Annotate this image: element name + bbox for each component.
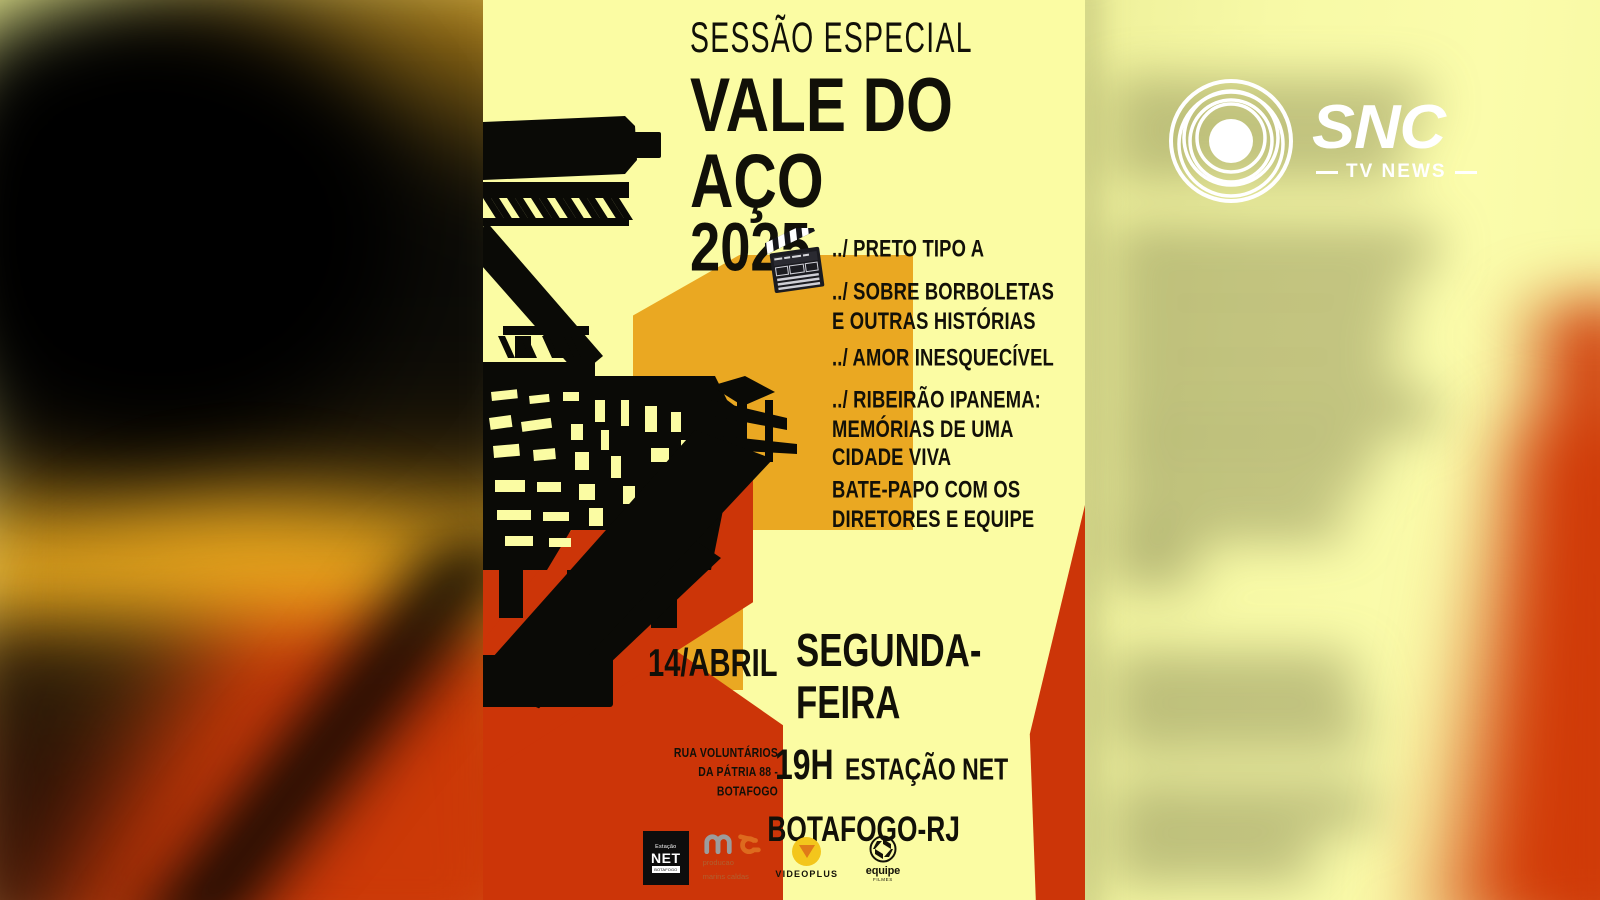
film-list-item: ../ RIBEIRÃO IPANEMA: MEMÓRIAS DE UMA CI… xyxy=(832,387,1057,473)
sponsor-logos: Estação NET BOTAFOGO xyxy=(643,824,913,892)
film-list-item: ../ AMOR INESQUECÍVEL xyxy=(832,345,1057,374)
snc-wordmark: SNC TV NEWS xyxy=(1312,99,1477,184)
videoplus-label: VIDEOPLUS xyxy=(775,869,839,879)
mc-logo-line2: marins caldas xyxy=(703,872,761,883)
event-details: 14/ABRIL SEGUNDA-FEIRA 19H ESTAÇÃO NET B… xyxy=(648,645,1068,842)
poster-title: VALE DO AÇO xyxy=(690,69,1059,220)
film-list: ../ PRETO TIPO A ../ SOBRE BORBOLETAS E … xyxy=(832,236,1077,543)
sponsor-logo-mc-producao: producao marins caldas xyxy=(703,833,761,883)
film-list-item: ../ SOBRE BORBOLETAS E OUTRAS HISTÓRIAS xyxy=(832,279,1057,337)
snc-subtitle-row: TV NEWS xyxy=(1312,161,1477,183)
net-logo-bar: BOTAFOGO xyxy=(652,866,680,873)
event-weekday: SEGUNDA-FEIRA xyxy=(796,625,1052,729)
net-logo-main-text: NET xyxy=(651,851,681,865)
film-list-item: ../ PRETO TIPO A xyxy=(832,236,1057,265)
poster-kicker: SESSÃO ESPECIAL xyxy=(690,16,1017,58)
sponsor-logo-videoplus: VIDEOPLUS xyxy=(775,837,839,879)
snc-dash-right-icon xyxy=(1455,171,1477,174)
snc-watermark: SNC TV NEWS xyxy=(1168,78,1477,204)
event-time: 19H xyxy=(775,742,834,790)
snc-name: SNC xyxy=(1312,99,1483,158)
event-date-row: 14/ABRIL SEGUNDA-FEIRA xyxy=(648,645,1068,729)
clapperboard-icon xyxy=(765,228,827,298)
sponsor-logo-equipe-filmes: equipe FILMES xyxy=(853,835,913,882)
snc-dash-left-icon xyxy=(1316,171,1338,174)
videoplus-triangle-icon xyxy=(799,845,815,858)
snc-subtitle: TV NEWS xyxy=(1346,161,1447,183)
event-date: 14/ABRIL xyxy=(648,641,778,686)
equipe-sublabel: FILMES xyxy=(853,877,913,882)
extra-activity: BATE-PAPO COM OS DIRETORES E EQUIPE xyxy=(832,477,1057,535)
black-strut-foot xyxy=(483,655,613,707)
sponsor-logo-estacao-net: Estação NET BOTAFOGO xyxy=(643,831,689,885)
net-logo-top-text: Estação xyxy=(655,844,676,850)
videoplus-mark-icon xyxy=(792,837,821,866)
poster-heading-block: SESSÃO ESPECIAL VALE DO AÇO 2025 xyxy=(690,16,1070,269)
net-logo-bar-text: BOTAFOGO xyxy=(654,867,677,872)
mc-logo-mark-icon xyxy=(703,833,761,855)
backdrop-right-red-edge xyxy=(1500,300,1600,900)
backdrop-left-dark-mass xyxy=(0,0,460,480)
snc-concentric-rings-icon xyxy=(1168,78,1294,204)
event-address: RUA VOLUNTÁRIOS DA PÁTRIA 88 - BOTAFOGO xyxy=(659,745,778,802)
mc-logo-line1: producao xyxy=(703,858,761,869)
event-venue: ESTAÇÃO NET xyxy=(845,752,1008,788)
equipe-label: equipe xyxy=(853,865,913,877)
screenshot-canvas: SESSÃO ESPECIAL VALE DO AÇO 2025 xyxy=(0,0,1600,900)
camera-aperture-icon xyxy=(869,835,897,863)
event-poster: SESSÃO ESPECIAL VALE DO AÇO 2025 xyxy=(483,0,1085,900)
